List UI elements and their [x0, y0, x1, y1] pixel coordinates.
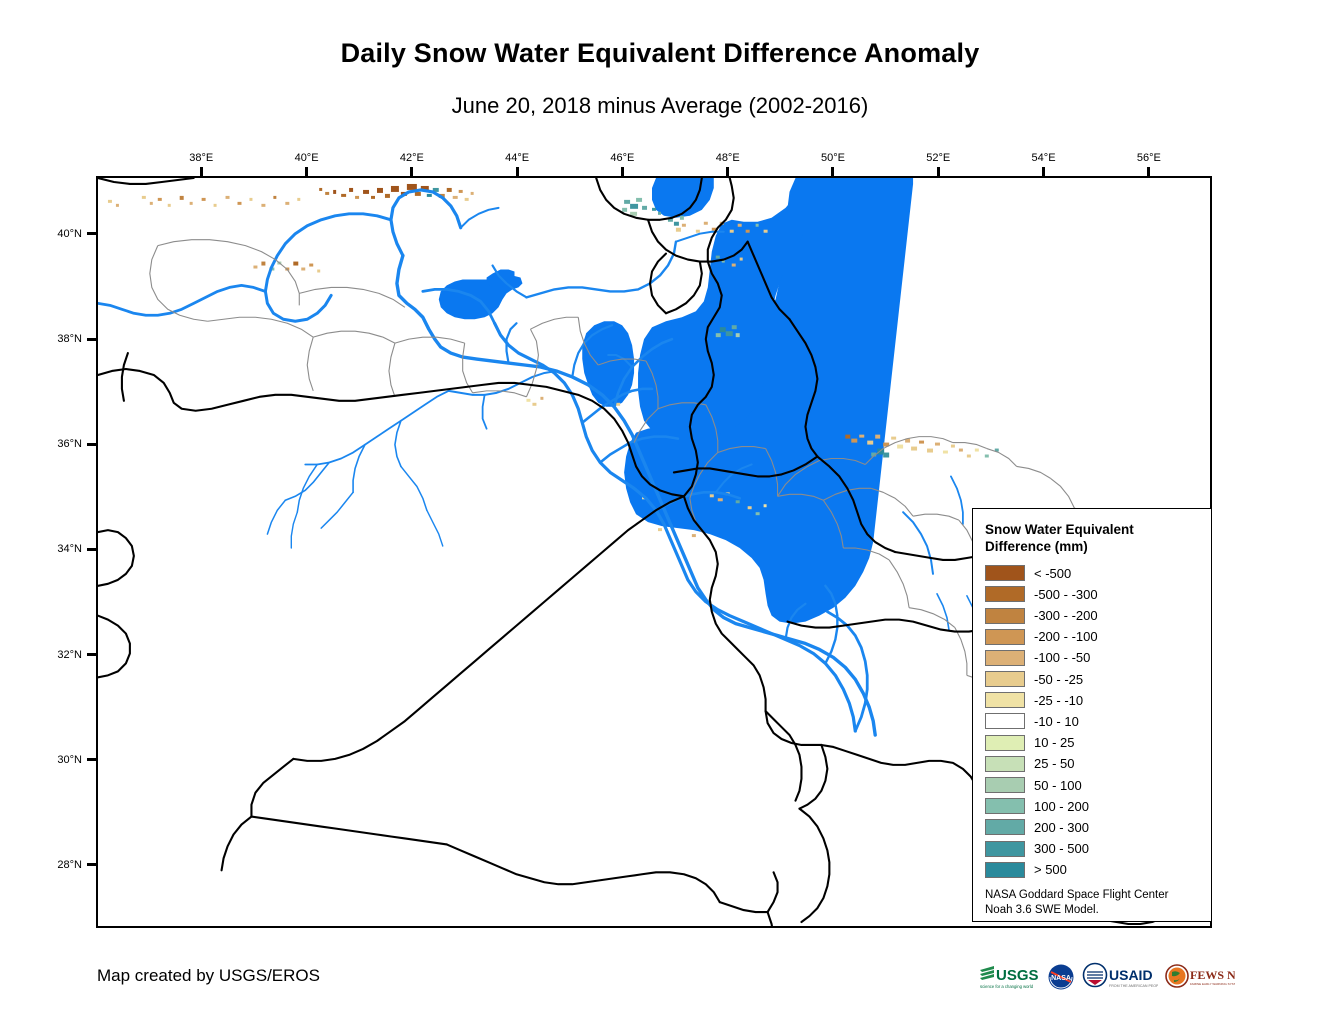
- anomaly-patch-munzur: [253, 262, 320, 273]
- lon-tick: [831, 167, 834, 176]
- euphrates-upper-north: [391, 190, 461, 256]
- border-armenia-iran: [666, 262, 702, 314]
- legend-swatch: [985, 819, 1025, 835]
- lon-tick-label: 50°E: [821, 152, 845, 164]
- legend-items: < -500-500 - -300-300 - -200-200 - -100-…: [985, 563, 1201, 881]
- nasa-logo[interactable]: NASA: [1047, 962, 1075, 992]
- lat-tick-label: 40°N: [57, 228, 82, 240]
- legend-row[interactable]: -200 - -100: [985, 626, 1201, 647]
- lon-tick: [937, 167, 940, 176]
- map-credit: Map created by USGS/EROS: [97, 966, 320, 986]
- legend-label: -100 - -50: [1034, 650, 1090, 665]
- svg-text:NASA: NASA: [1051, 975, 1071, 982]
- coastline-mediterranean: [122, 353, 128, 401]
- border-kuwait-coast: [768, 872, 778, 912]
- border-jordan-iraq: [251, 817, 446, 845]
- legend-label: -200 - -100: [1034, 629, 1098, 644]
- lat-tick-label: 28°N: [57, 859, 82, 871]
- lake-van: [439, 275, 523, 319]
- legend-footer-line2: Noah 3.6 SWE Model.: [985, 903, 1201, 918]
- legend-row[interactable]: 50 - 100: [985, 774, 1201, 795]
- lon-tick: [621, 167, 624, 176]
- wadi-hauran: [305, 391, 448, 465]
- legend-swatch: [985, 798, 1025, 814]
- legend-swatch: [985, 565, 1025, 581]
- legend-label: 300 - 500: [1034, 841, 1089, 856]
- legend-row[interactable]: -500 - -300: [985, 584, 1201, 605]
- legend-label: < -500: [1034, 566, 1071, 581]
- legend-swatch: [985, 841, 1025, 857]
- lon-tick: [200, 167, 203, 176]
- legend-row[interactable]: 300 - 500: [985, 838, 1201, 859]
- page-title: Daily Snow Water Equivalent Difference A…: [0, 38, 1320, 69]
- coastline-levant-2: [98, 616, 130, 678]
- svg-text:USGS: USGS: [996, 967, 1039, 984]
- border-iraq-kuwait: [720, 902, 768, 912]
- wadi-branch-h: [427, 510, 443, 546]
- legend-label: -10 - 10: [1034, 714, 1079, 729]
- legend-label: -300 - -200: [1034, 608, 1098, 623]
- lon-tick-label: 46°E: [610, 152, 634, 164]
- lat-tick: [87, 443, 96, 446]
- agency-logos: USGS science for a changing world NASA U…: [978, 958, 1214, 996]
- lon-tick: [1042, 167, 1045, 176]
- lat-tick-label: 32°N: [57, 649, 82, 661]
- lon-tick-label: 54°E: [1032, 152, 1056, 164]
- euphrates-sw-trib: [483, 395, 487, 429]
- legend-swatch: [985, 650, 1025, 666]
- lat-tick-label: 30°N: [57, 754, 82, 766]
- page-subtitle: June 20, 2018 minus Average (2002-2016): [0, 93, 1320, 119]
- usaid-logo[interactable]: USAID FROM THE AMERICAN PEOPLE: [1082, 962, 1158, 992]
- lat-tick: [87, 758, 96, 761]
- legend-row[interactable]: -100 - -50: [985, 647, 1201, 668]
- svg-text:USAID: USAID: [1109, 967, 1153, 983]
- wadi-branch-i: [291, 512, 297, 548]
- legend-swatch: [985, 586, 1025, 602]
- wadi-branch-e: [321, 492, 353, 528]
- anomaly-patch-pontic: [319, 184, 473, 201]
- legend-row[interactable]: -300 - -200: [985, 605, 1201, 626]
- legend-row[interactable]: 200 - 300: [985, 817, 1201, 838]
- anomaly-patch-anatolia-west: [108, 196, 300, 207]
- svg-text:science for a changing world: science for a changing world: [980, 984, 1034, 989]
- border-iraq-saudi: [447, 844, 720, 902]
- legend-title-line1: Snow Water Equivalent: [985, 521, 1201, 538]
- coruh-river: [461, 208, 499, 228]
- legend-row[interactable]: 10 - 25: [985, 732, 1201, 753]
- karasu-river: [98, 285, 265, 315]
- legend-row[interactable]: > 500: [985, 859, 1201, 880]
- legend-label: -25 - -10: [1034, 693, 1083, 708]
- coastline-kuwait-saudi: [768, 912, 774, 926]
- svg-text:FEWS NET: FEWS NET: [1190, 968, 1235, 982]
- lat-tick: [87, 863, 96, 866]
- legend-footer: NASA Goddard Space Flight Center Noah 3.…: [985, 888, 1201, 918]
- lon-tick-label: 40°E: [295, 152, 319, 164]
- legend-swatch: [985, 756, 1025, 772]
- lat-tick: [87, 232, 96, 235]
- legend-title: Snow Water Equivalent Difference (mm): [985, 521, 1201, 556]
- legend-label: 50 - 100: [1034, 778, 1082, 793]
- lon-tick: [726, 167, 729, 176]
- fars-river-e: [937, 594, 949, 630]
- lon-tick-label: 44°E: [505, 152, 529, 164]
- legend-panel[interactable]: Snow Water Equivalent Difference (mm) < …: [972, 508, 1212, 922]
- legend-label: -50 - -25: [1034, 672, 1083, 687]
- wadi-branch-c: [395, 421, 401, 467]
- anomaly-patch-hakkari: [526, 397, 543, 406]
- legend-row[interactable]: 25 - 50: [985, 753, 1201, 774]
- lat-tick: [87, 338, 96, 341]
- legend-label: 10 - 25: [1034, 735, 1074, 750]
- legend-footer-line1: NASA Goddard Space Flight Center: [985, 888, 1201, 903]
- legend-row[interactable]: -25 - -10: [985, 690, 1201, 711]
- legend-row[interactable]: -10 - 10: [985, 711, 1201, 732]
- border-jordan-saudi: [222, 817, 252, 871]
- lon-tick-label: 42°E: [400, 152, 424, 164]
- svg-text:FAMINE EARLY WARNING SYSTEMS N: FAMINE EARLY WARNING SYSTEMS NETWORK: [1190, 982, 1235, 986]
- legend-swatch: [985, 608, 1025, 624]
- lon-tick-label: 52°E: [926, 152, 950, 164]
- fewsnet-logo[interactable]: FEWS NET FAMINE EARLY WARNING SYSTEMS NE…: [1165, 962, 1235, 992]
- border-syria-jordan: [251, 759, 293, 817]
- legend-label: 200 - 300: [1034, 820, 1089, 835]
- lat-tick-label: 38°N: [57, 333, 82, 345]
- legend-label: 100 - 200: [1034, 799, 1089, 814]
- fars-river-a: [903, 512, 933, 574]
- lon-tick-label: 38°E: [189, 152, 213, 164]
- persian-gulf: [736, 755, 935, 924]
- lat-tick: [87, 548, 96, 551]
- coastline-black-sea: [98, 178, 194, 184]
- svg-text:FROM THE AMERICAN PEOPLE: FROM THE AMERICAN PEOPLE: [1109, 984, 1158, 988]
- legend-swatch: [985, 735, 1025, 751]
- lon-tick-label: 48°E: [716, 152, 740, 164]
- legend-row[interactable]: -50 - -25: [985, 668, 1201, 689]
- wadi-branch-f: [401, 466, 427, 510]
- lon-tick: [305, 167, 308, 176]
- legend-label: -500 - -300: [1034, 587, 1098, 602]
- legend-swatch: [985, 777, 1025, 793]
- lat-tick-label: 34°N: [57, 543, 82, 555]
- lat-tick: [87, 653, 96, 656]
- lon-tick: [1147, 167, 1150, 176]
- legend-label: > 500: [1034, 862, 1067, 877]
- legend-label: 25 - 50: [1034, 756, 1074, 771]
- border-nakhchivan: [650, 254, 666, 314]
- legend-row[interactable]: < -500: [985, 563, 1201, 584]
- legend-title-line2: Difference (mm): [985, 538, 1201, 555]
- lat-tick-label: 36°N: [57, 438, 82, 450]
- usgs-logo[interactable]: USGS science for a changing world: [978, 962, 1040, 992]
- legend-swatch: [985, 629, 1025, 645]
- legend-swatch: [985, 862, 1025, 878]
- anomaly-patch-armenia: [622, 198, 647, 216]
- legend-swatch: [985, 713, 1025, 729]
- wadi-branch-g: [267, 500, 285, 534]
- lon-tick: [516, 167, 519, 176]
- legend-row[interactable]: 100 - 200: [985, 796, 1201, 817]
- legend-swatch: [985, 671, 1025, 687]
- coastline-levant: [98, 530, 134, 586]
- border-syria-iraq: [293, 496, 684, 761]
- lon-tick-label: 56°E: [1137, 152, 1161, 164]
- legend-swatch: [985, 692, 1025, 708]
- fars-river-b: [951, 476, 963, 524]
- lon-tick: [410, 167, 413, 176]
